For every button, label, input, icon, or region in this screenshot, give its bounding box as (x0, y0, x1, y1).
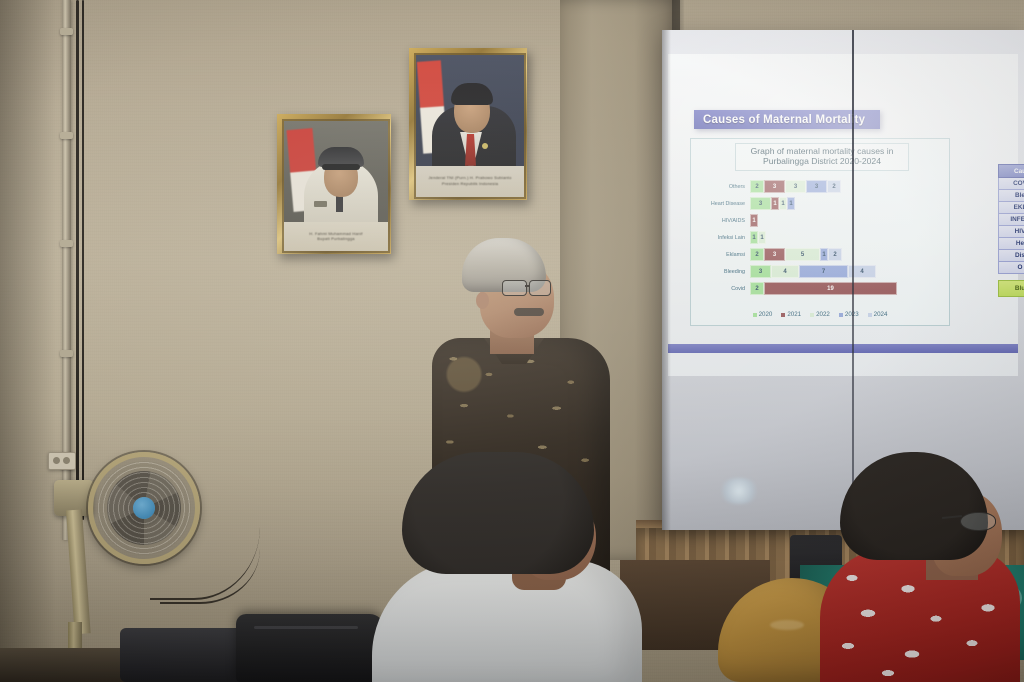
officer-cap-icon (318, 147, 364, 167)
side-table-row: EKL (998, 202, 1024, 214)
legend-swatch (839, 313, 843, 317)
chart-bar-group: 1 (750, 214, 758, 227)
chart-category-label: Covid (691, 286, 750, 292)
chart-bar-segment: 2 (750, 282, 764, 295)
chart-row: Bleeding3474 (691, 264, 949, 279)
chart-title: Graph of maternal mortality causes in Pu… (735, 143, 909, 171)
chart-row: Covid219 (691, 281, 949, 296)
chart-bar-segment: 19 (764, 282, 897, 295)
chart-category-label: Others (691, 184, 750, 190)
chart-bar-segment: 3 (750, 197, 771, 210)
chart-plot-area: Others23332Heart Disease3111HIV/AIDS1Inf… (691, 179, 949, 305)
chart-container: Graph of maternal mortality causes in Pu… (690, 138, 950, 326)
screen-left-edge (662, 30, 671, 530)
legend-item: 2023 (839, 311, 859, 318)
chart-bar-segment: 2 (827, 180, 841, 193)
side-table-row: HIV (998, 226, 1024, 238)
portrait-caption: H. Fahmi Muhammad Hanif Bupati Purbaling… (284, 222, 388, 251)
chart-category-label: HIV/AIDS (691, 218, 750, 224)
side-table-row: Dis (998, 250, 1024, 262)
side-table-row: O (998, 262, 1024, 274)
white-shirt (372, 560, 642, 682)
slide-footer-bar (668, 344, 1018, 353)
chart-row: Eklamsi23512 (691, 247, 949, 262)
chart-bar-segment: 1 (750, 231, 758, 244)
chart-bar-segment: 4 (771, 265, 799, 278)
chart-bar-segment: 3 (764, 248, 785, 261)
chart-bar-segment: 1 (820, 248, 828, 261)
side-table-row: INFEK (998, 214, 1024, 226)
side-table-header: Cau (998, 164, 1024, 178)
legend-swatch (868, 313, 872, 317)
projector-light-reflection (718, 478, 760, 504)
power-outlet[interactable] (48, 452, 76, 470)
legend-swatch (781, 313, 785, 317)
side-table-row: Ble (998, 190, 1024, 202)
audience-white-shirt (372, 452, 652, 682)
presenter-ear (476, 292, 489, 309)
fan-hub (133, 497, 155, 519)
side-table-row: He (998, 238, 1024, 250)
legend-label: 2020 (759, 311, 773, 318)
chart-bar-segment: 2 (750, 180, 764, 193)
wall-fan[interactable] (88, 452, 200, 564)
chart-category-label: Infeksi Lain (691, 235, 750, 241)
side-table-badge: Blu (998, 280, 1024, 297)
legend-item: 2021 (781, 311, 801, 318)
chart-title-line2: Purbalingga District 2020-2024 (736, 156, 908, 166)
portrait-caption: Jenderal TNI (Purn.) H. Prabowo Subianto… (416, 166, 524, 197)
chart-bar-segment: 2 (828, 248, 842, 261)
chart-bar-segment: 2 (750, 248, 764, 261)
chart-bar-group: 11 (750, 231, 766, 244)
chart-bar-segment: 3 (750, 265, 771, 278)
presentation-slide: Causes of Maternal Mortality Graph of ma… (668, 54, 1018, 376)
chart-row: HIV/AIDS1 (691, 213, 949, 228)
chart-bar-group: 3474 (750, 265, 876, 278)
scarf-fold (770, 620, 804, 630)
portrait-caption-title: Presiden Republik Indonesia (442, 182, 498, 187)
portrait-caption-title: Bupati Purbalingga (317, 237, 354, 242)
chart-bar-group: 3111 (750, 197, 795, 210)
legend-item: 2020 (753, 311, 773, 318)
legend-label: 2024 (874, 311, 888, 318)
chart-bar-segment: 1 (750, 214, 758, 227)
chart-category-label: Heart Disease (691, 201, 750, 207)
chart-bar-group: 23332 (750, 180, 841, 193)
chart-bar-segment: 1 (787, 197, 795, 210)
legend-label: 2021 (787, 311, 801, 318)
chart-bar-segment: 3 (806, 180, 827, 193)
chart-bar-group: 219 (750, 282, 897, 295)
hair (402, 452, 594, 574)
chair-left (120, 628, 250, 682)
wall-cable-1 (76, 0, 79, 525)
red-batik-shirt (820, 548, 1020, 682)
wall-left-shadow (0, 0, 56, 682)
audience-red-batik (820, 452, 1024, 682)
bupati-portrait: H. Fahmi Muhammad Hanif Bupati Purbaling… (277, 114, 391, 254)
glasses-icon (502, 280, 554, 295)
president-portrait: Jenderal TNI (Purn.) H. Prabowo Subianto… (409, 48, 527, 200)
legend-item: 2022 (810, 311, 830, 318)
screenshot-root: H. Fahmi Muhammad Hanif Bupati Purbaling… (0, 0, 1024, 682)
legend-swatch (753, 313, 757, 317)
chart-row: Infeksi Lain11 (691, 230, 949, 245)
chart-category-label: Bleeding (691, 269, 750, 275)
fan-cage (88, 452, 200, 564)
side-table-rows: COVBleEKLINFEKHIVHeDisO (998, 178, 1024, 274)
chart-bar-segment: 3 (785, 180, 806, 193)
chart-title-line1: Graph of maternal mortality causes in (736, 146, 908, 156)
slide-header-text: Causes of Maternal Mortality (694, 114, 865, 126)
bag[interactable] (236, 614, 384, 682)
chart-bar-segment: 5 (785, 248, 820, 261)
chart-bar-segment: 1 (758, 231, 766, 244)
chart-bar-segment: 7 (799, 265, 848, 278)
chart-bar-segment: 1 (779, 197, 787, 210)
side-table: Cau COVBleEKLINFEKHIVHeDisO Blu (998, 164, 1024, 297)
wall-cable-2 (82, 0, 84, 520)
chart-bar-group: 23512 (750, 248, 842, 261)
chart-legend: 20202021202220232024 (691, 311, 949, 318)
hair (840, 452, 988, 560)
chart-bar-segment: 1 (771, 197, 779, 210)
chart-row: Others23332 (691, 179, 949, 194)
legend-swatch (810, 313, 814, 317)
legend-item: 2024 (868, 311, 888, 318)
chart-row: Heart Disease3111 (691, 196, 949, 211)
chart-bar-segment: 3 (764, 180, 785, 193)
chart-category-label: Eklamsi (691, 252, 750, 258)
legend-label: 2022 (816, 311, 830, 318)
side-table-row: COV (998, 178, 1024, 190)
glasses-icon (942, 512, 1000, 530)
presenter-mustache (514, 308, 544, 316)
